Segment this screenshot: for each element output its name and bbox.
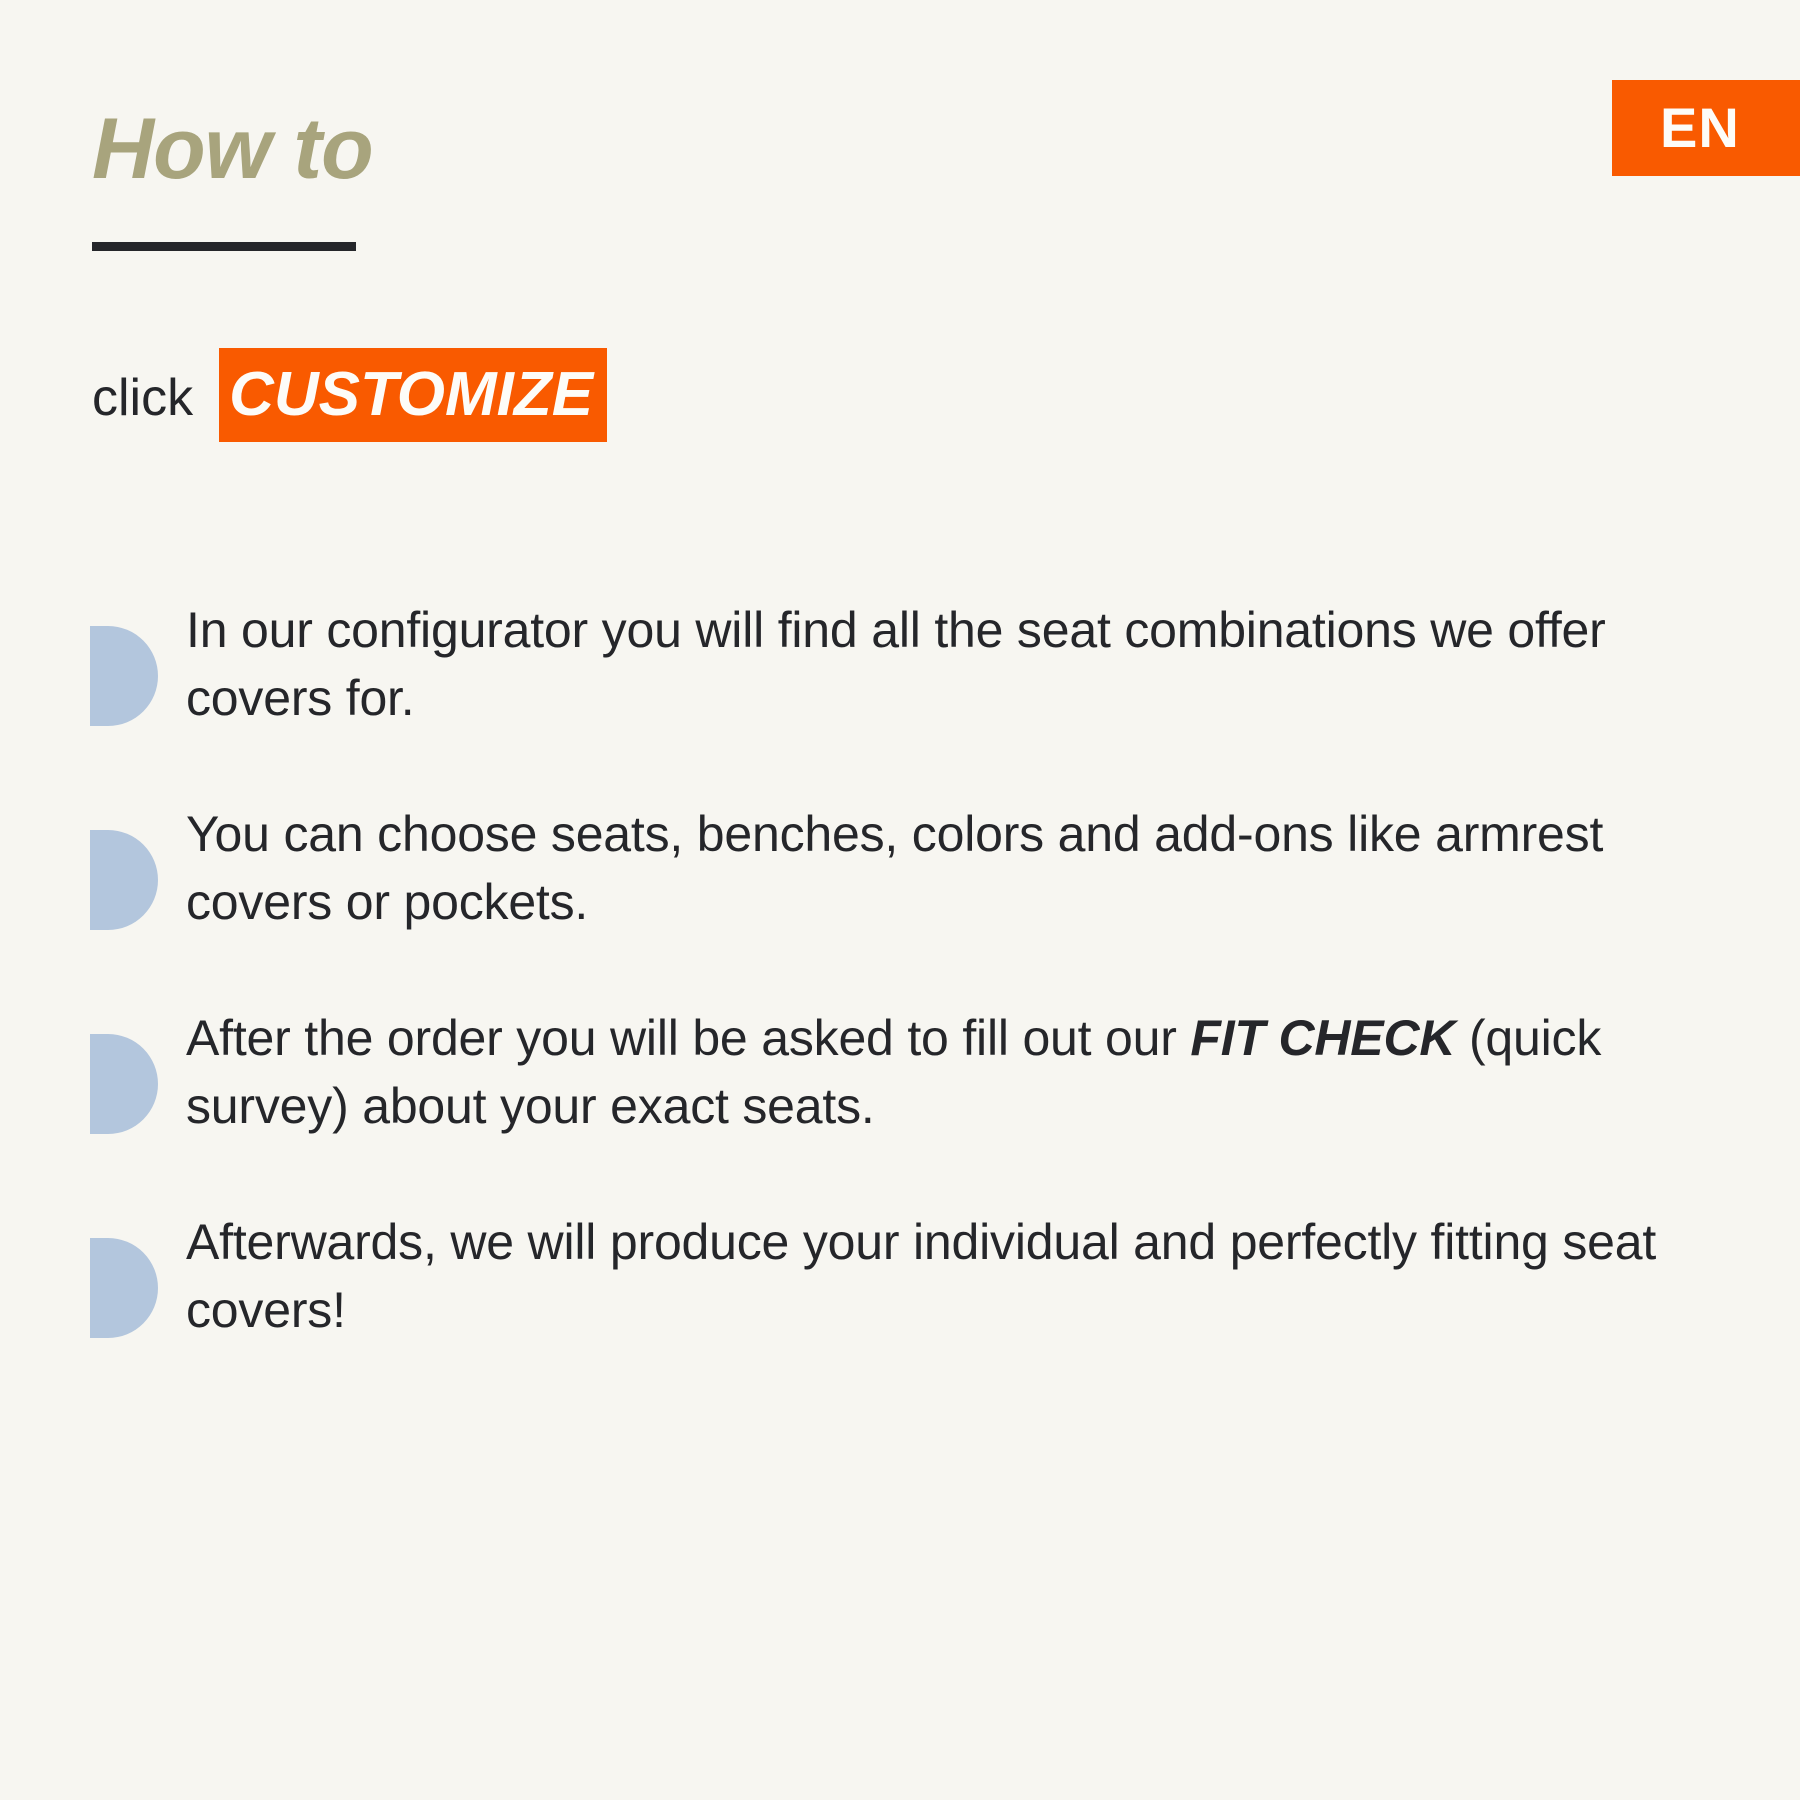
list-item: You can choose seats, benches, colors an… xyxy=(90,800,1690,936)
steps-list: In our configurator you will find all th… xyxy=(90,596,1690,1344)
list-item: After the order you will be asked to fil… xyxy=(90,1004,1690,1140)
d-shape-bullet-icon xyxy=(90,1238,158,1338)
list-item-text: After the order you will be asked to fil… xyxy=(186,1004,1690,1140)
heading-block: How to xyxy=(92,104,373,251)
language-badge-label: EN xyxy=(1660,100,1740,156)
cta-instruction: click CUSTOMIZE xyxy=(92,348,607,442)
list-item: Afterwards, we will produce your individ… xyxy=(90,1208,1690,1344)
title-underline-rule xyxy=(92,242,356,251)
language-badge[interactable]: EN xyxy=(1612,80,1800,176)
how-to-card: EN How to click CUSTOMIZE In our configu… xyxy=(0,0,1800,1800)
d-shape-bullet-icon xyxy=(90,830,158,930)
list-item: In our configurator you will find all th… xyxy=(90,596,1690,732)
list-item-text: Afterwards, we will produce your individ… xyxy=(186,1208,1690,1344)
page-title: How to xyxy=(92,104,373,194)
cta-prefix-label: click xyxy=(92,372,193,424)
d-shape-bullet-icon xyxy=(90,1034,158,1134)
customize-button-label[interactable]: CUSTOMIZE xyxy=(219,348,607,442)
d-shape-bullet-icon xyxy=(90,626,158,726)
fit-check-emphasis: FIT CHECK xyxy=(1190,1010,1455,1066)
list-item-text: In our configurator you will find all th… xyxy=(186,596,1690,732)
list-item-text: You can choose seats, benches, colors an… xyxy=(186,800,1690,936)
list-item-text-before: After the order you will be asked to fil… xyxy=(186,1010,1190,1066)
